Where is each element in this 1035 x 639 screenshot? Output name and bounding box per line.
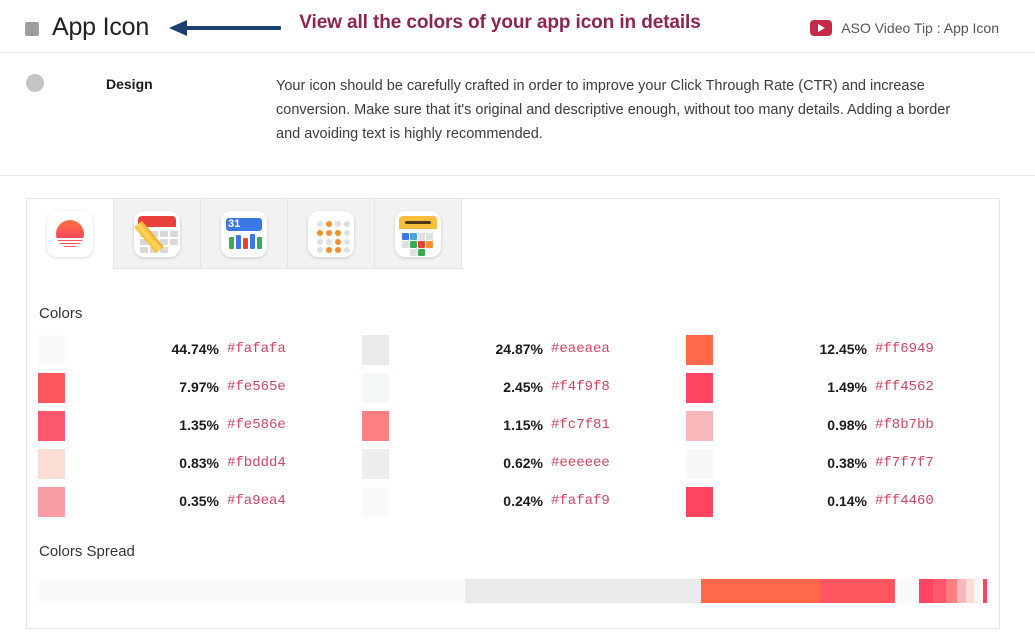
color-row[interactable]: 0.14% #ff4460	[675, 483, 999, 521]
color-swatch	[362, 449, 389, 479]
color-percentage: 0.38%	[775, 455, 867, 471]
color-swatch	[38, 411, 65, 441]
color-hex: #eaeaea	[551, 341, 610, 357]
color-hex: #fa9ea4	[227, 493, 286, 509]
tab-competitor-4[interactable]	[375, 199, 462, 269]
design-status-dot	[26, 74, 44, 92]
colors-spread-segment	[895, 579, 918, 603]
color-hex: #fc7f81	[551, 417, 610, 433]
sunset-app-icon	[47, 211, 93, 257]
colors-spread-segment	[946, 579, 957, 603]
color-percentage: 0.98%	[775, 417, 867, 433]
color-swatch	[362, 411, 389, 441]
color-row[interactable]: 1.15% #fc7f81	[351, 407, 675, 445]
colors-spread-segment	[701, 579, 819, 603]
colors-column-2: 24.87% #eaeaea 2.45% #f4f9f8 1.15% #fc7f…	[351, 331, 675, 521]
color-hex: #fafaf9	[551, 493, 610, 509]
color-row[interactable]: 12.45% #ff6949	[675, 331, 999, 369]
color-hex: #fbddd4	[227, 455, 286, 471]
colors-spread-bar	[39, 579, 989, 603]
color-row[interactable]: 1.49% #ff4562	[675, 369, 999, 407]
color-swatch	[686, 487, 713, 517]
color-percentage: 24.87%	[451, 341, 543, 357]
color-hex: #ff4460	[875, 493, 934, 509]
tab-competitor-2[interactable]: 31	[201, 199, 288, 269]
color-swatch	[686, 335, 713, 365]
color-row[interactable]: 2.45% #f4f9f8	[351, 369, 675, 407]
color-swatch	[686, 411, 713, 441]
color-row[interactable]: 1.35% #fe586e	[27, 407, 351, 445]
aso-video-tip-link[interactable]: ASO Video Tip : App Icon	[810, 20, 999, 36]
calendar-pencil-icon	[134, 211, 180, 257]
colors-spread-segment	[987, 579, 989, 603]
color-row[interactable]: 0.98% #f8b7bb	[675, 407, 999, 445]
color-percentage: 12.45%	[775, 341, 867, 357]
colors-spread-segment	[820, 579, 896, 603]
color-hex: #f4f9f8	[551, 379, 610, 395]
color-swatch	[362, 335, 389, 365]
section-divider	[0, 175, 1035, 176]
colors-column-1: 44.74% #fafafa 7.97% #fe565e 1.35% #fe58…	[27, 331, 351, 521]
color-swatch	[38, 487, 65, 517]
color-hex: #eeeeee	[551, 455, 610, 471]
color-percentage: 1.49%	[775, 379, 867, 395]
colors-spread-heading: Colors Spread	[39, 543, 135, 560]
page-title: App Icon	[52, 13, 149, 42]
app-icon-colors-card: 31	[26, 198, 1000, 629]
tab-competitor-1[interactable]	[114, 199, 201, 269]
color-percentage: 44.74%	[127, 341, 219, 357]
color-swatch	[362, 487, 389, 517]
color-row[interactable]: 44.74% #fafafa	[27, 331, 351, 369]
annotation-colors-text: View all the colors of your app icon in …	[290, 10, 710, 36]
colors-heading: Colors	[39, 305, 82, 322]
annotation-arrow-colors	[169, 20, 281, 36]
calendar-blocks-icon	[395, 211, 441, 257]
color-swatch	[38, 449, 65, 479]
color-hex: #fafafa	[227, 341, 286, 357]
calendar-31-chart-icon: 31	[221, 211, 267, 257]
tab-competitor-3[interactable]	[288, 199, 375, 269]
square-icon	[25, 22, 39, 36]
color-hex: #fe565e	[227, 379, 286, 395]
dot-grid-icon	[308, 211, 354, 257]
color-percentage: 0.24%	[451, 493, 543, 509]
color-row[interactable]: 24.87% #eaeaea	[351, 331, 675, 369]
color-row[interactable]: 0.62% #eeeeee	[351, 445, 675, 483]
colors-spread-segment	[465, 579, 702, 603]
color-row[interactable]: 0.35% #fa9ea4	[27, 483, 351, 521]
design-label: Design	[106, 76, 153, 92]
color-percentage: 0.83%	[127, 455, 219, 471]
color-percentage: 0.62%	[451, 455, 543, 471]
icon-tab-strip: 31	[27, 199, 462, 269]
sidebar-item-app-icon-own[interactable]	[27, 199, 114, 269]
color-percentage: 2.45%	[451, 379, 543, 395]
color-hex: #f8b7bb	[875, 417, 934, 433]
colors-spread-segment	[957, 579, 966, 603]
color-row[interactable]: 7.97% #fe565e	[27, 369, 351, 407]
color-percentage: 0.35%	[127, 493, 219, 509]
color-swatch	[38, 335, 65, 365]
colors-column-3: 12.45% #ff6949 1.49% #ff4562 0.98% #f8b7…	[675, 331, 999, 521]
color-hex: #fe586e	[227, 417, 286, 433]
color-percentage: 1.15%	[451, 417, 543, 433]
video-tip-label: ASO Video Tip : App Icon	[841, 20, 999, 36]
color-percentage: 1.35%	[127, 417, 219, 433]
colors-grid: 44.74% #fafafa 7.97% #fe565e 1.35% #fe58…	[27, 331, 1001, 521]
youtube-play-icon	[810, 20, 832, 36]
color-row[interactable]: 0.38% #f7f7f7	[675, 445, 999, 483]
colors-spread-segment	[919, 579, 933, 603]
color-swatch	[38, 373, 65, 403]
arrow-shaft	[185, 26, 281, 30]
colors-spread-segment	[966, 579, 974, 603]
color-row[interactable]: 0.83% #fbddd4	[27, 445, 351, 483]
color-hex: #ff6949	[875, 341, 934, 357]
color-row[interactable]: 0.24% #fafaf9	[351, 483, 675, 521]
color-swatch	[686, 449, 713, 479]
color-percentage: 0.14%	[775, 493, 867, 509]
color-hex: #f7f7f7	[875, 455, 934, 471]
color-swatch	[686, 373, 713, 403]
color-hex: #ff4562	[875, 379, 934, 395]
color-swatch	[362, 373, 389, 403]
design-description: Your icon should be carefully crafted in…	[276, 74, 976, 146]
color-percentage: 7.97%	[127, 379, 219, 395]
colors-spread-segment	[933, 579, 946, 603]
colors-spread-segment	[39, 579, 465, 603]
